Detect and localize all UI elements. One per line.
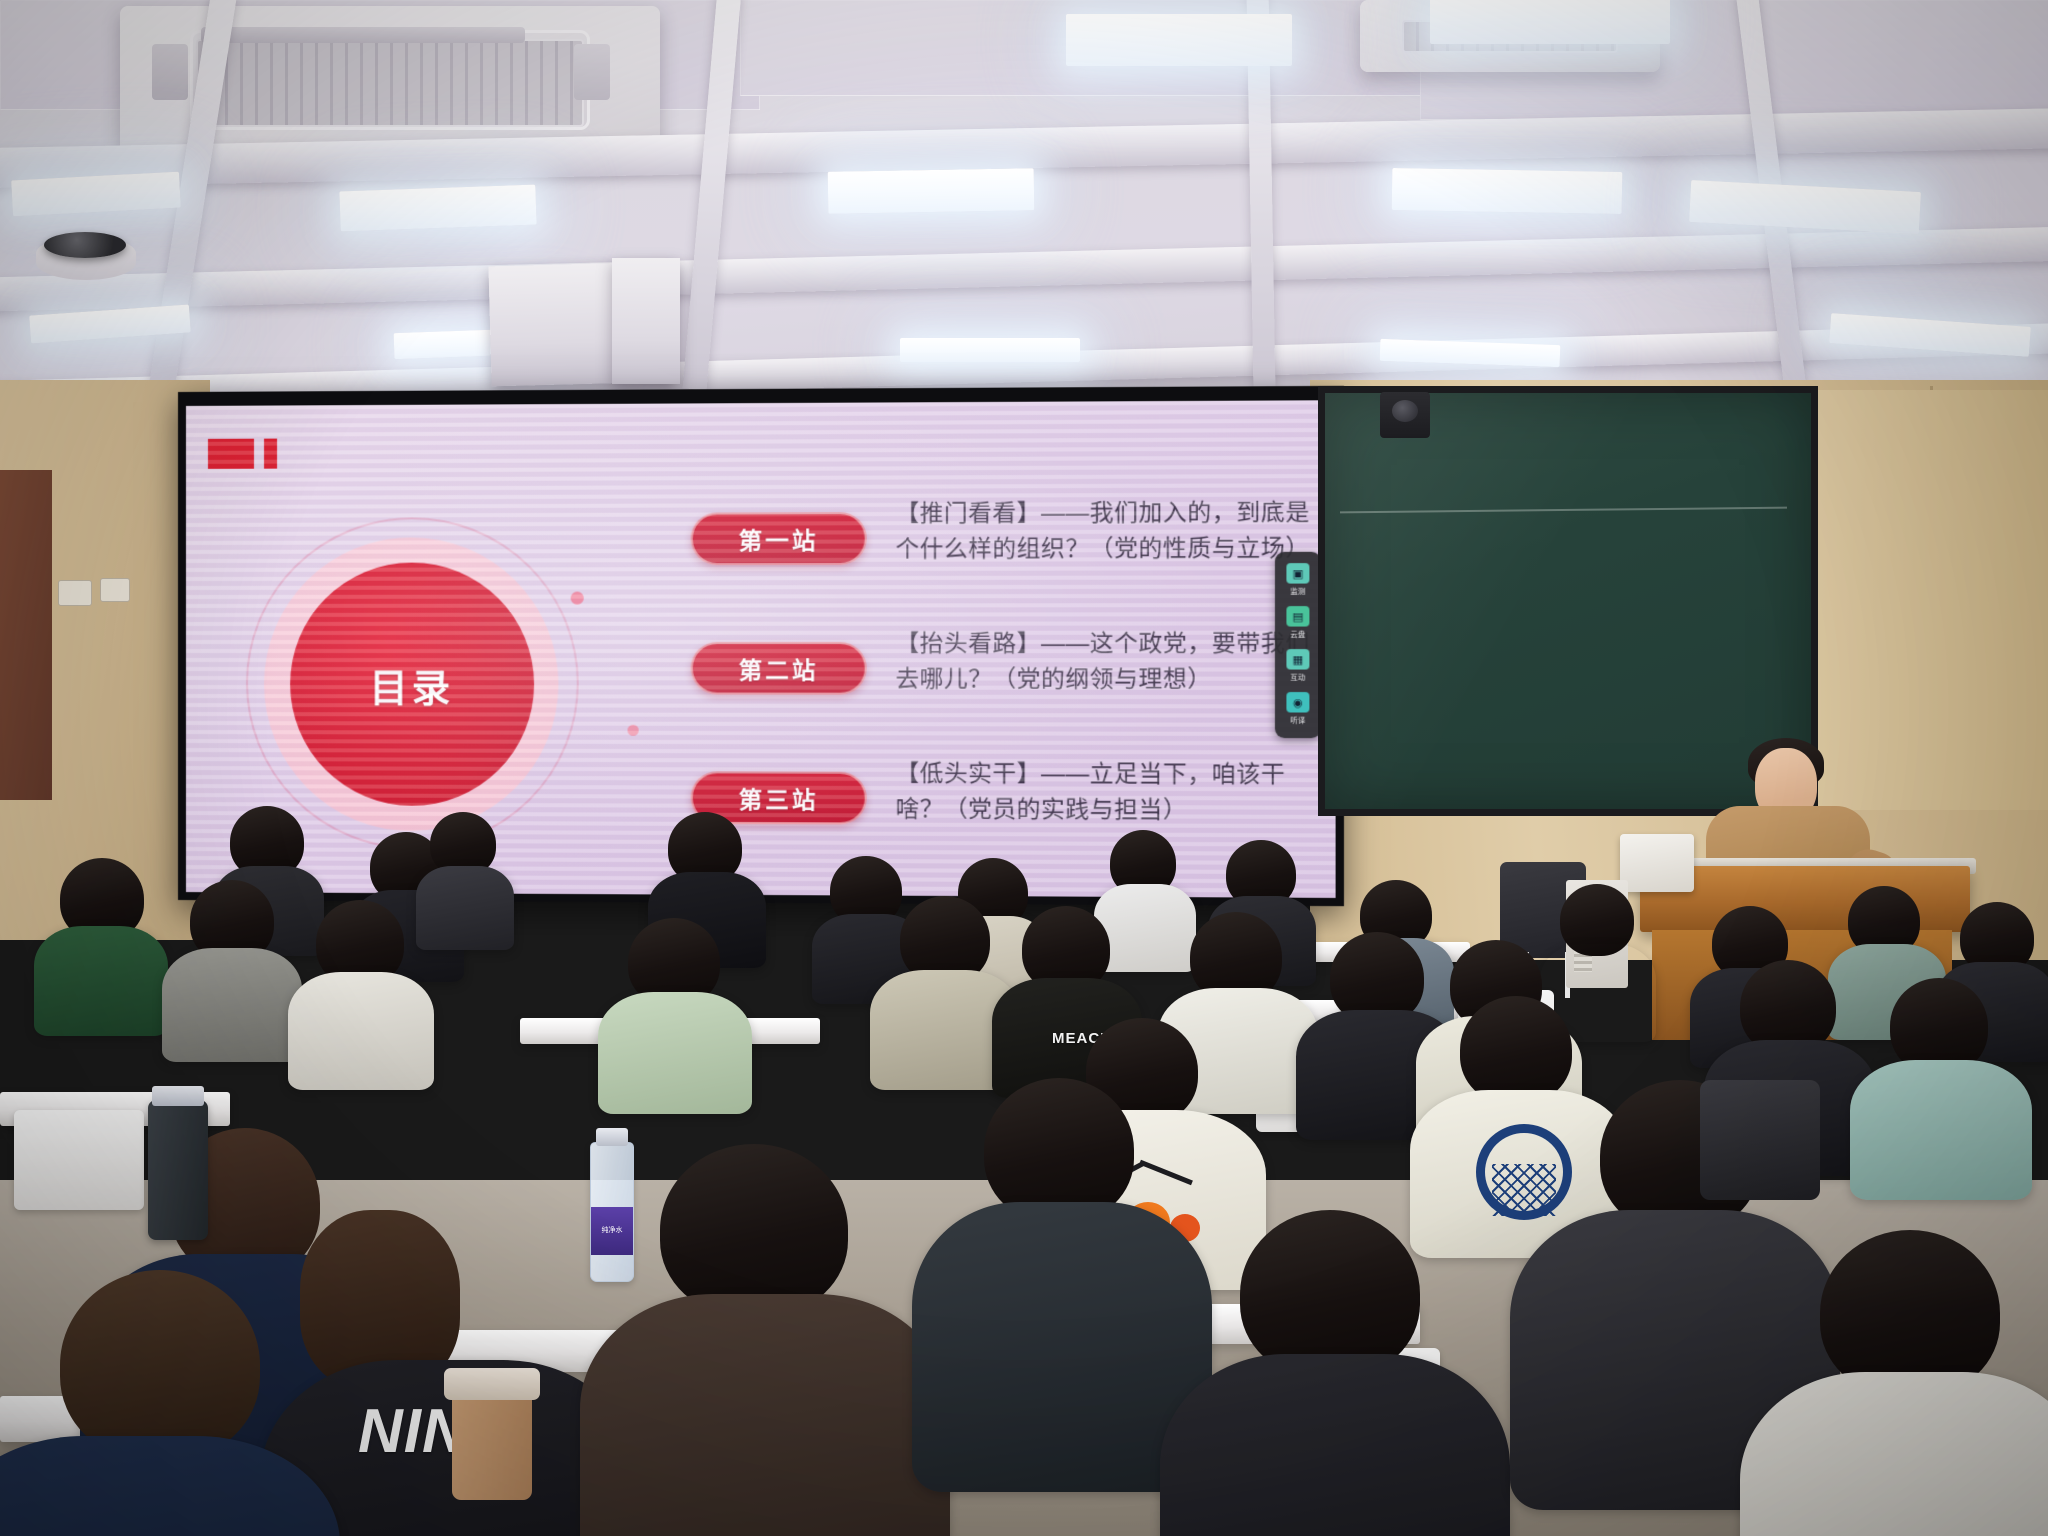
toolbar-label-interaction: 互动 (1290, 673, 1305, 683)
projector-mount-2 (612, 258, 680, 384)
station-pill-2-label: 第二站 (739, 651, 819, 685)
toolbar-item-interaction[interactable]: ▦ 互动 (1275, 645, 1321, 688)
microphone-icon (1392, 400, 1418, 422)
speaker-dome-icon (44, 232, 126, 258)
station-text-2: 【抬头看路】——这个政党，要带我们去哪儿？（党的纲领与理想） (896, 626, 1311, 698)
water-bottle: 纯净水 (590, 1142, 634, 1282)
chair-back (14, 1110, 144, 1210)
translate-icon: ◉ (1286, 692, 1309, 712)
ceiling-light (1392, 168, 1623, 214)
ceiling-light (900, 338, 1080, 362)
recording-icon: ▣ (1286, 563, 1309, 584)
station-text-3: 【低头实干】——立足当下，咱该干啥？（党员的实践与担当） (896, 756, 1311, 828)
station-row: 第二站 【抬头看路】——这个政党，要带我们去哪儿？（党的纲领与理想） (691, 630, 1307, 761)
station-text-1: 【推门看看】——我们加入的，到底是个什么样的组织？（党的性质与立场） (896, 495, 1311, 567)
toolbar-item-translate[interactable]: ◉ 听译 (1275, 688, 1321, 731)
interaction-icon: ▦ (1286, 649, 1309, 669)
screen-side-toolbar[interactable]: ▣ 监测 ▤ 云盘 ▦ 互动 ◉ 听译 (1275, 552, 1321, 738)
chalkboard (1318, 386, 1818, 816)
ceiling-light (11, 172, 181, 217)
light-switch-2[interactable] (100, 578, 130, 602)
toolbar-label-monitor: 监测 (1290, 587, 1305, 597)
toolbar-item-cloud[interactable]: ▤ 云盘 (1275, 602, 1321, 645)
bottle-label: 纯净水 (591, 1207, 633, 1255)
slide-surface: 目录 第一站 【推门看看】——我们加入的，到底是个什么样的组织？（党的性质与立场… (186, 400, 1336, 898)
slide-decor-mark-a (208, 439, 254, 469)
slide-decor-mark-b (264, 439, 277, 469)
toolbar-item-monitor[interactable]: ▣ 监测 (1275, 559, 1321, 602)
backpack (1700, 1080, 1820, 1200)
thermos-bottle (148, 1100, 208, 1240)
drink-cup (452, 1390, 532, 1500)
toc-label: 目录 (369, 657, 454, 712)
bottle-cap (596, 1128, 628, 1146)
wall-cabinet (1790, 390, 2048, 810)
ceiling (0, 0, 2048, 430)
slide-dot-b (628, 725, 639, 736)
toc-circle: 目录 (290, 562, 534, 806)
thermos-cap (152, 1086, 204, 1106)
ceiling-light (1689, 180, 1921, 234)
ceiling-light (339, 185, 536, 232)
station-row: 第一站 【推门看看】——我们加入的，到底是个什么样的组织？（党的性质与立场） (691, 499, 1307, 630)
station-pill-2: 第二站 (691, 642, 867, 695)
station-pill-1-label: 第一站 (739, 521, 819, 556)
station-pill-1: 第一站 (691, 512, 867, 565)
toolbar-label-cloud: 云盘 (1290, 630, 1305, 640)
toolbar-label-translate: 听译 (1290, 716, 1305, 726)
ceiling-light (1066, 14, 1292, 66)
lectern-monitor (1620, 834, 1694, 892)
ceiling-light (1430, 0, 1670, 44)
cup-lid (444, 1368, 540, 1400)
lecture-hall-photo: 目录 第一站 【推门看看】——我们加入的，到底是个什么样的组织？（党的性质与立场… (0, 0, 2048, 1536)
light-switch[interactable] (58, 580, 92, 606)
station-pill-3-label: 第三站 (739, 781, 819, 816)
hoodie-graphic-net (1492, 1164, 1556, 1216)
station-list: 第一站 【推门看看】——我们加入的，到底是个什么样的组织？（党的性质与立场） 第… (691, 499, 1307, 892)
door (0, 470, 52, 800)
cloud-disk-icon: ▤ (1286, 606, 1309, 626)
projection-screen: 目录 第一站 【推门看看】——我们加入的，到底是个什么样的组织？（党的性质与立场… (178, 386, 1344, 906)
ceiling-light (828, 168, 1035, 214)
slide-dot-a (571, 592, 584, 605)
